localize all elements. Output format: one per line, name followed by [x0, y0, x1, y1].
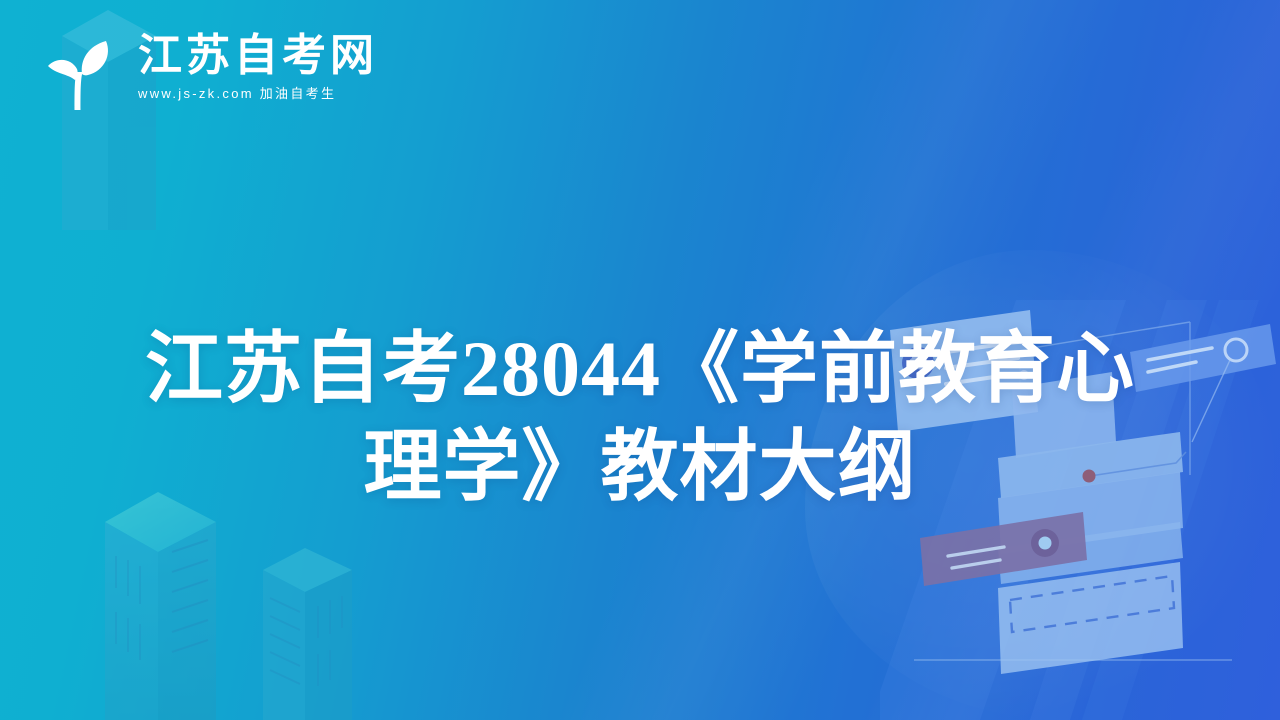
building-tall-tower [105, 492, 216, 720]
site-logo[interactable]: 江苏自考网 www.js-zk.com 加油自考生 [30, 22, 378, 118]
dashed-placeholder-box [998, 562, 1183, 674]
page-title: 江苏自考28044《学前教育心理学》教材大纲 [0, 320, 1280, 516]
logo-text: 江苏自考网 www.js-zk.com 加油自考生 [138, 22, 378, 103]
building-short-tower [263, 548, 352, 720]
sprout-leaf-icon [30, 22, 124, 118]
logo-tagline: www.js-zk.com 加油自考生 [138, 85, 378, 103]
page-banner: 江苏自考网 www.js-zk.com 加油自考生 [0, 0, 1280, 720]
logo-site-name: 江苏自考网 [138, 30, 378, 82]
purple-tag-card [920, 512, 1087, 586]
